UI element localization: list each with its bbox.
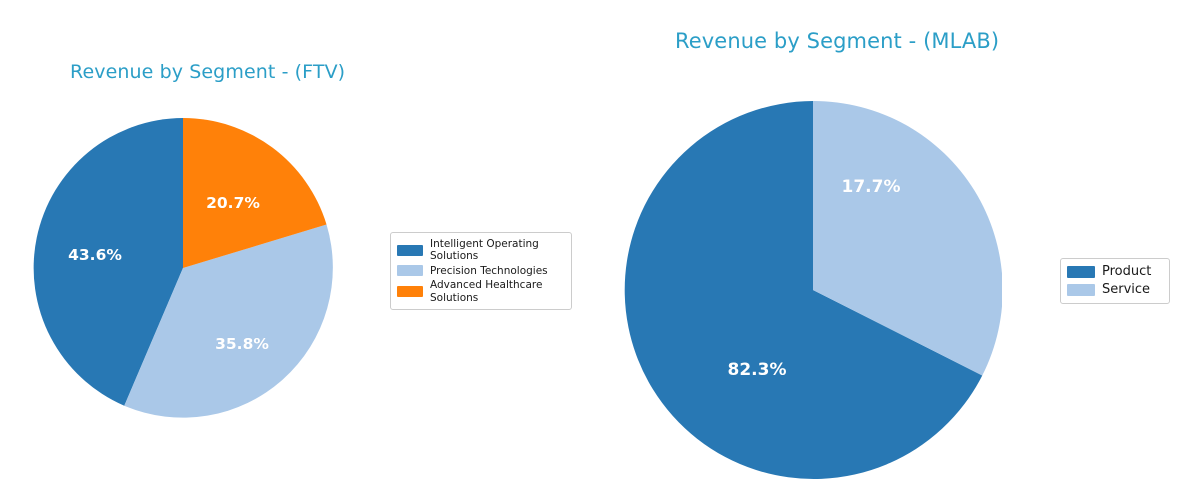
legend-swatch-icon [397, 245, 423, 256]
pie-label-advanced-healthcare-solutions: 20.7% [206, 194, 260, 212]
legend-item-product[interactable]: Product [1067, 264, 1162, 279]
legend-mlab: Product Service [1060, 258, 1170, 304]
legend-swatch-icon [1067, 284, 1095, 296]
pie-chart-figure: Revenue by Segment - (FTV) 43.6% 35.8% 2… [0, 0, 1200, 492]
pie-label-service: 17.7% [842, 177, 901, 197]
legend-item-precision-technologies[interactable]: Precision Technologies [397, 265, 564, 277]
pie-ftv-svg [33, 118, 333, 418]
legend-label: Service [1102, 282, 1150, 297]
legend-swatch-icon [397, 265, 423, 276]
legend-swatch-icon [1067, 266, 1095, 278]
chart-title-mlab: Revenue by Segment - (MLAB) [675, 29, 999, 53]
legend-label: Product [1102, 264, 1151, 279]
pie-mlab-svg [624, 101, 1002, 479]
pie-label-product: 82.3% [728, 360, 787, 380]
legend-item-advanced-healthcare-solutions[interactable]: Advanced Healthcare Solutions [397, 279, 564, 304]
pie-chart-mlab [624, 101, 1002, 479]
legend-label: Precision Technologies [430, 265, 548, 277]
pie-label-precision-technologies: 35.8% [215, 335, 269, 353]
legend-label: Advanced Healthcare Solutions [430, 279, 564, 304]
chart-title-ftv: Revenue by Segment - (FTV) [70, 61, 345, 83]
legend-ftv: Intelligent Operating Solutions Precisio… [390, 232, 572, 310]
pie-chart-ftv [33, 118, 333, 418]
legend-swatch-icon [397, 286, 423, 297]
legend-item-intelligent-operating-solutions[interactable]: Intelligent Operating Solutions [397, 238, 564, 263]
pie-label-intelligent-operating-solutions: 43.6% [68, 246, 122, 264]
legend-label: Intelligent Operating Solutions [430, 238, 564, 263]
legend-item-service[interactable]: Service [1067, 282, 1162, 297]
